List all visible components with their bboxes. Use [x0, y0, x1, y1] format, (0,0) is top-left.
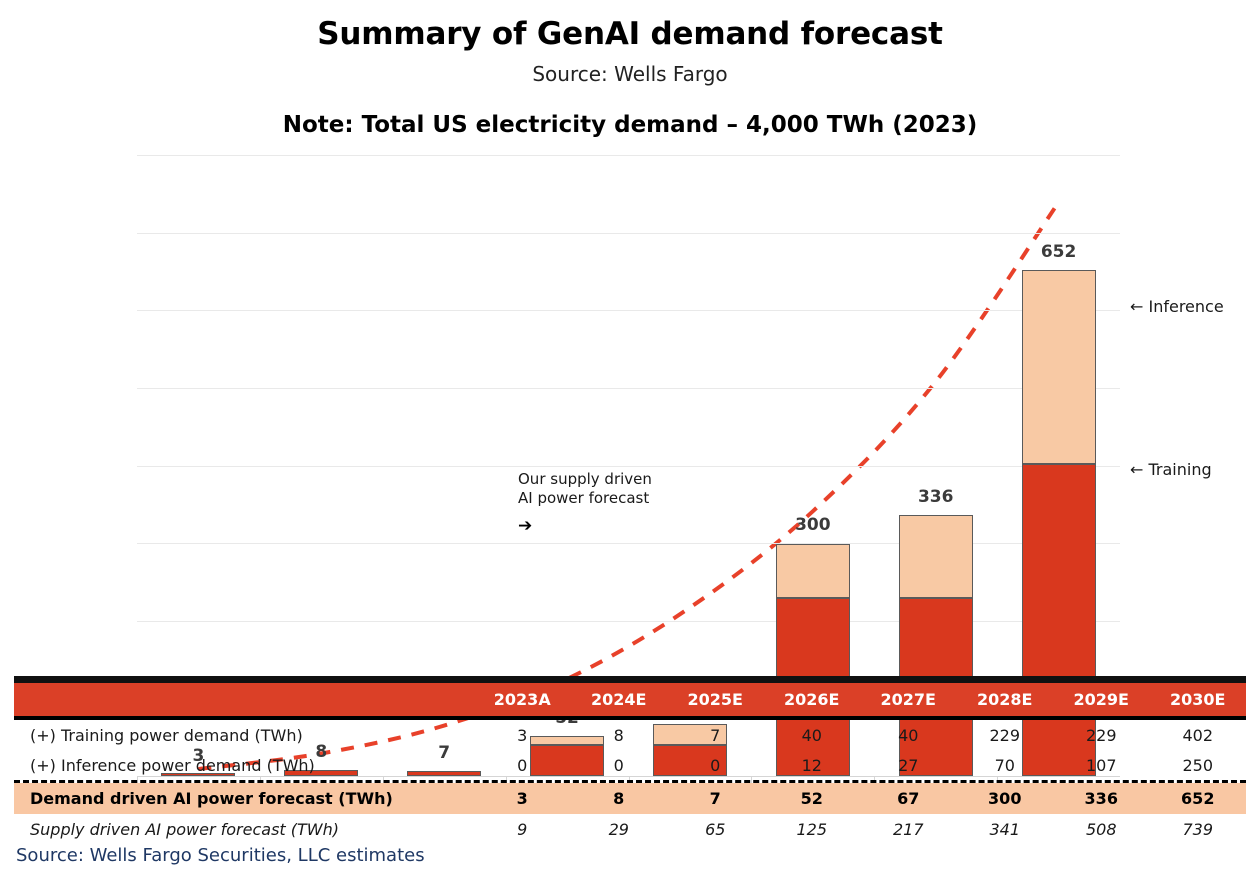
gridline: [137, 233, 1120, 234]
table-row-label: (+) Inference power demand (TWh): [14, 756, 474, 775]
table-column-header: 2026E: [764, 690, 861, 709]
bar-segment-inference[interactable]: [899, 515, 973, 598]
table-cell: 27: [860, 756, 957, 775]
table-cell: 8: [571, 789, 668, 808]
training-callout: ← Training: [1130, 460, 1212, 479]
table-header-row: 2023A2024E2025E2026E2027E2028E2029E2030E: [14, 683, 1246, 720]
table-cell: 229: [1053, 726, 1150, 745]
table-cell: 3: [474, 789, 571, 808]
forecast-annotation: Our supply driven AI power forecast: [518, 470, 652, 508]
table-cell: 300: [957, 789, 1054, 808]
table-row-label: Supply driven AI power forecast (TWh): [14, 820, 474, 839]
data-table: 2023A2024E2025E2026E2027E2028E2029E2030E…: [14, 676, 1246, 844]
table-cell: 652: [1150, 789, 1247, 808]
table-column-header: 2023A: [474, 690, 571, 709]
table-cell: 0: [474, 756, 571, 775]
table-cell: 52: [764, 789, 861, 808]
table-column-header: 2025E: [667, 690, 764, 709]
bar-total-label: 652: [997, 242, 1120, 262]
table-cell: 9: [474, 820, 571, 839]
table-cell: 67: [860, 789, 957, 808]
table-body: (+) Training power demand (TWh)387404022…: [14, 720, 1246, 844]
bar-segment-inference[interactable]: [776, 544, 850, 598]
table-cell: 402: [1150, 726, 1247, 745]
forecast-annotation-arrow: ➔: [518, 516, 532, 536]
table-cell: 8: [571, 726, 668, 745]
footer-source: Source: Wells Fargo Securities, LLC esti…: [16, 845, 425, 866]
table-cell: 229: [957, 726, 1054, 745]
page-subtitle: Source: Wells Fargo: [0, 62, 1260, 86]
table-cell: 29: [571, 820, 668, 839]
table-cell: 217: [860, 820, 957, 839]
gridline: [137, 310, 1120, 311]
chart-note: Note: Total US electricity demand – 4,00…: [0, 112, 1260, 138]
table-column-header: 2028E: [957, 690, 1054, 709]
table-cell: 7: [667, 789, 764, 808]
table-cell: 40: [860, 726, 957, 745]
table-column-header: 2030E: [1150, 690, 1247, 709]
gridline: [137, 155, 1120, 156]
table-cell: 70: [957, 756, 1054, 775]
table-cell: 336: [1053, 789, 1150, 808]
table-top-rule: [14, 676, 1246, 683]
table-cell: 341: [957, 820, 1054, 839]
table-cell: 12: [764, 756, 861, 775]
table-cell: 250: [1150, 756, 1247, 775]
page-title: Summary of GenAI demand forecast: [0, 16, 1260, 52]
table-column-header: 2024E: [571, 690, 668, 709]
table-row: Supply driven AI power forecast (TWh)929…: [14, 814, 1246, 844]
table-row-label: Demand driven AI power forecast (TWh): [14, 789, 474, 808]
table-column-header: 2027E: [860, 690, 957, 709]
table-cell: 7: [667, 726, 764, 745]
bar-segment-inference[interactable]: [1022, 270, 1096, 464]
table-cell: 107: [1053, 756, 1150, 775]
table-cell: 508: [1053, 820, 1150, 839]
table-row-label: (+) Training power demand (TWh): [14, 726, 474, 745]
table-cell: 739: [1150, 820, 1247, 839]
table-cell: 0: [667, 756, 764, 775]
table-row: (+) Inference power demand (TWh)00012277…: [14, 750, 1246, 783]
slide-root: Summary of GenAI demand forecast Source:…: [0, 0, 1260, 887]
table-row: Demand driven AI power forecast (TWh)387…: [14, 783, 1246, 814]
chart-area: 01002003004005006007008002023A32024E8202…: [0, 145, 1260, 675]
table-cell: 40: [764, 726, 861, 745]
bar-total-label: 300: [751, 515, 874, 535]
bar-total-label: 336: [874, 487, 997, 507]
table-row: (+) Training power demand (TWh)387404022…: [14, 720, 1246, 750]
table-cell: 3: [474, 726, 571, 745]
table-column-header: 2029E: [1053, 690, 1150, 709]
gridline: [137, 388, 1120, 389]
table-cell: 125: [764, 820, 861, 839]
gridline: [137, 466, 1120, 467]
table-cell: 0: [571, 756, 668, 775]
inference-callout: ← Inference: [1130, 297, 1224, 316]
table-cell: 65: [667, 820, 764, 839]
